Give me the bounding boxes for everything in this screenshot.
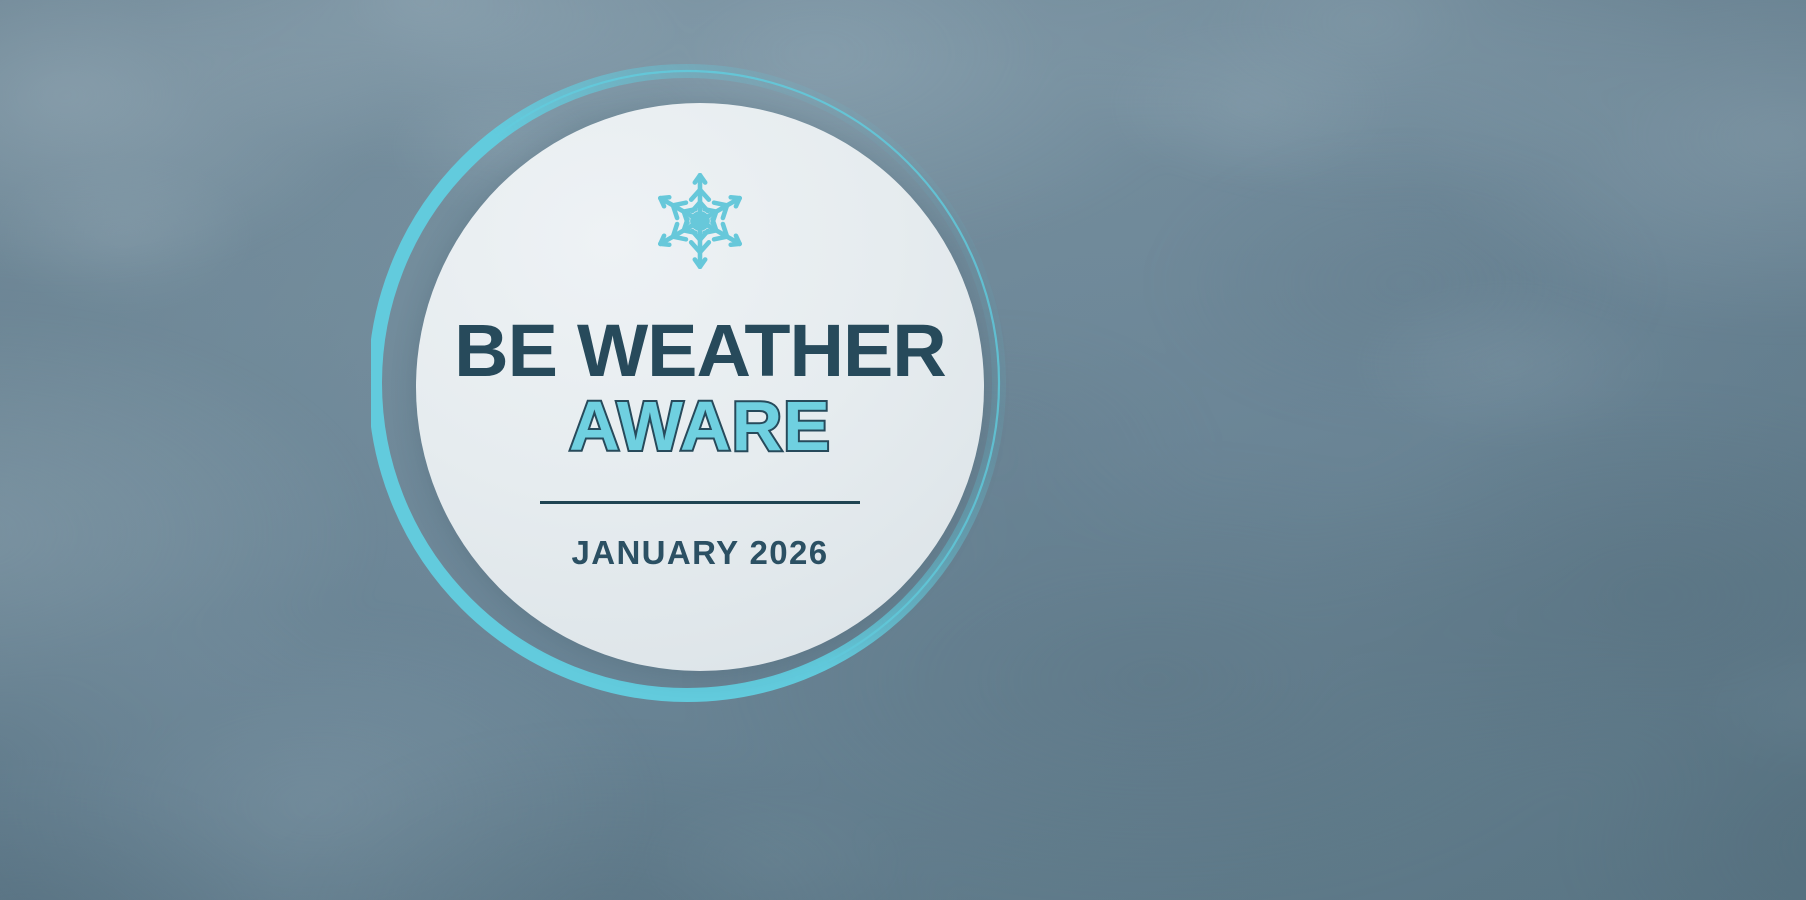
subheadline: AWARE [569, 391, 831, 461]
snowflake-icon [648, 169, 752, 273]
date-label: JANUARY 2026 [571, 534, 828, 572]
badge-content: BE WEATHER AWARE JANUARY 2026 [416, 103, 984, 671]
badge-disc: BE WEATHER AWARE JANUARY 2026 [416, 103, 984, 671]
divider [540, 501, 860, 504]
badge: BE WEATHER AWARE JANUARY 2026 [371, 57, 1011, 707]
headline: BE WEATHER [454, 317, 946, 385]
poster-canvas: BE WEATHER AWARE JANUARY 2026 [0, 0, 1806, 900]
